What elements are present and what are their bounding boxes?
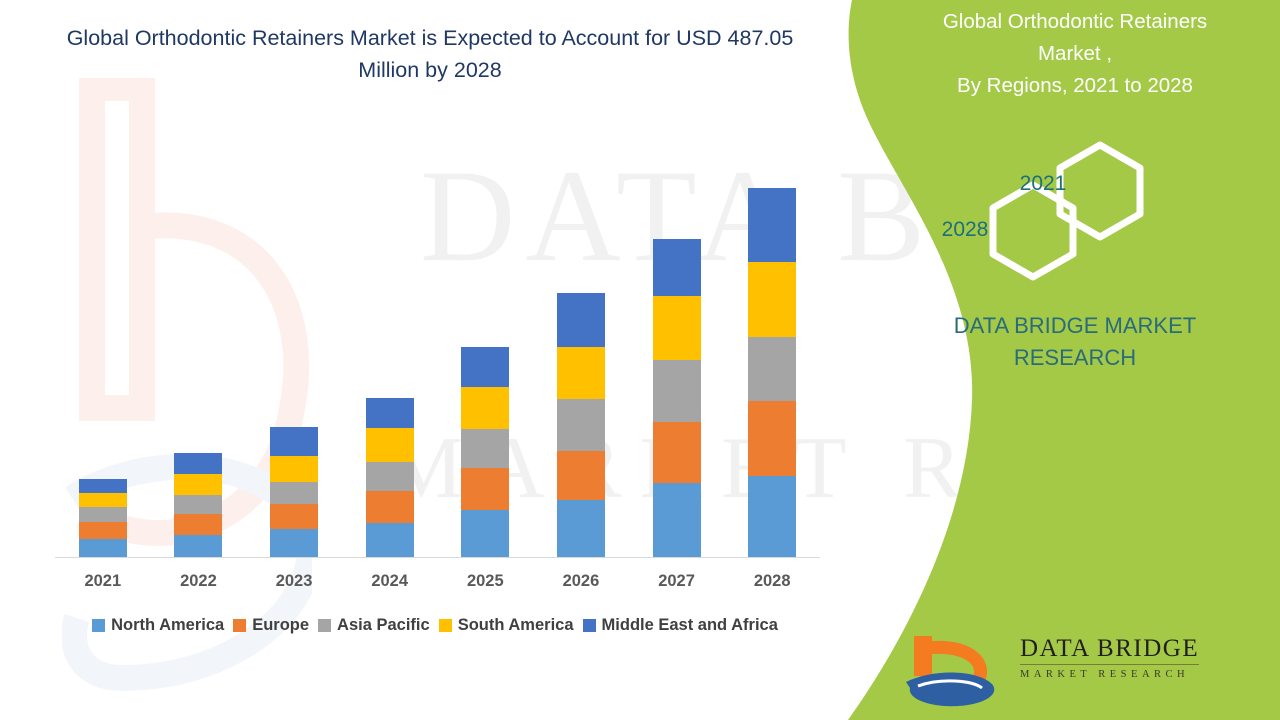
right-panel: Global Orthodontic Retainers Market , By… — [900, 0, 1280, 720]
bar-segment — [461, 347, 509, 388]
bar-segment — [270, 456, 318, 482]
bar-column — [438, 150, 534, 557]
bar-segment — [270, 427, 318, 456]
bar-segment — [557, 347, 605, 400]
bar-segment — [557, 293, 605, 347]
bar-column — [55, 150, 151, 557]
bar-segment — [366, 398, 414, 428]
legend-swatch-icon — [233, 619, 246, 632]
chart-panel: Global Orthodontic Retainers Market is E… — [0, 0, 860, 720]
hexagon-2028-label: 2028 — [925, 218, 1005, 242]
legend-item[interactable]: Asia Pacific — [318, 616, 430, 635]
legend-item[interactable]: South America — [439, 616, 574, 635]
bar-segment — [653, 239, 701, 296]
brand-name: DATA BRIDGE MARKET RESEARCH — [900, 310, 1250, 374]
bar-stack — [557, 293, 605, 557]
legend-swatch-icon — [92, 619, 105, 632]
chart-legend: North AmericaEuropeAsia PacificSouth Ame… — [40, 616, 830, 635]
bar-segment — [79, 522, 127, 539]
dbmr-logo-mark — [900, 630, 1015, 708]
bar-column — [533, 150, 629, 557]
bar-column — [151, 150, 247, 557]
brand-line2: RESEARCH — [1014, 345, 1136, 370]
hexagon-2021-label: 2021 — [1003, 172, 1083, 196]
bar-segment — [174, 453, 222, 474]
legend-item[interactable]: Middle East and Africa — [583, 616, 778, 635]
x-axis-ticks: 20212022202320242025202620272028 — [55, 572, 820, 591]
bar-column — [724, 150, 820, 557]
x-axis-tick-label: 2022 — [151, 572, 247, 591]
legend-item[interactable]: North America — [92, 616, 224, 635]
x-axis-tick-label: 2024 — [342, 572, 438, 591]
bar-segment — [366, 428, 414, 462]
bar-segment — [557, 399, 605, 451]
bar-segment — [174, 495, 222, 514]
bar-stack — [79, 479, 127, 557]
x-axis-tick-label: 2023 — [246, 572, 342, 591]
bar-segment — [174, 514, 222, 535]
legend-swatch-icon — [583, 619, 596, 632]
legend-swatch-icon — [318, 619, 331, 632]
legend-item[interactable]: Europe — [233, 616, 309, 635]
legend-label: Asia Pacific — [337, 616, 430, 635]
bar-segment — [557, 500, 605, 557]
x-axis-tick-label: 2026 — [533, 572, 629, 591]
chart-title: Global Orthodontic Retainers Market is E… — [40, 22, 820, 86]
brand-line1: DATA BRIDGE MARKET — [954, 313, 1196, 338]
bar-stack — [174, 453, 222, 557]
bar-column — [342, 150, 438, 557]
bar-segment — [461, 510, 509, 557]
legend-label: Middle East and Africa — [602, 616, 778, 635]
bar-segment — [748, 262, 796, 336]
bar-segment — [748, 476, 796, 557]
bar-stack — [748, 188, 796, 557]
bar-segment — [461, 387, 509, 429]
legend-label: North America — [111, 616, 224, 635]
x-axis-tick-label: 2027 — [629, 572, 725, 591]
bar-segment — [174, 474, 222, 496]
bar-segment — [270, 482, 318, 505]
bar-segment — [79, 507, 127, 522]
dbmr-logo: DATA BRIDGE MARKET RESEARCH — [900, 630, 1260, 710]
dbmr-logo-sub: MARKET RESEARCH — [1020, 669, 1260, 680]
bar-segment — [461, 468, 509, 511]
x-axis-tick-label: 2025 — [438, 572, 534, 591]
bar-segment — [653, 422, 701, 483]
bar-stack — [366, 398, 414, 557]
bar-segment — [79, 493, 127, 508]
x-axis-tick-label: 2028 — [724, 572, 820, 591]
x-axis-tick-label: 2021 — [55, 572, 151, 591]
bar-segment — [557, 451, 605, 501]
stacked-bar-plot — [55, 150, 820, 557]
bar-segment — [748, 188, 796, 262]
legend-label: South America — [458, 616, 574, 635]
hexagon-2028 — [993, 185, 1073, 277]
bar-segment — [748, 401, 796, 475]
bar-column — [629, 150, 725, 557]
bar-stack — [270, 427, 318, 557]
chart-baseline — [55, 557, 820, 558]
right-panel-title: Global Orthodontic Retainers Market , By… — [900, 6, 1250, 102]
bar-segment — [270, 529, 318, 557]
right-panel-title-line3: By Regions, 2021 to 2028 — [900, 70, 1250, 102]
infographic-canvas: DATA BRIDGE MARKET RESEARCH Global Ortho… — [0, 0, 1280, 720]
right-panel-title-line2: Market , — [900, 38, 1250, 70]
dbmr-logo-text: DATA BRIDGE MARKET RESEARCH — [1020, 635, 1260, 680]
bar-stack — [653, 239, 701, 557]
bar-segment — [79, 479, 127, 493]
bar-segment — [270, 504, 318, 529]
bar-segment — [79, 539, 127, 557]
bar-stack — [461, 347, 509, 557]
bar-segment — [653, 296, 701, 361]
legend-label: Europe — [252, 616, 309, 635]
bar-segment — [366, 462, 414, 492]
bar-segment — [653, 360, 701, 422]
bar-segment — [366, 491, 414, 523]
dbmr-logo-main: DATA BRIDGE — [1020, 635, 1199, 665]
hexagon-badges — [975, 140, 1175, 290]
bar-segment — [653, 483, 701, 557]
bar-segment — [366, 523, 414, 557]
right-panel-title-line1: Global Orthodontic Retainers — [943, 10, 1207, 33]
bar-segment — [461, 429, 509, 468]
bar-segment — [748, 337, 796, 402]
legend-swatch-icon — [439, 619, 452, 632]
bar-segment — [174, 535, 222, 557]
bar-column — [246, 150, 342, 557]
